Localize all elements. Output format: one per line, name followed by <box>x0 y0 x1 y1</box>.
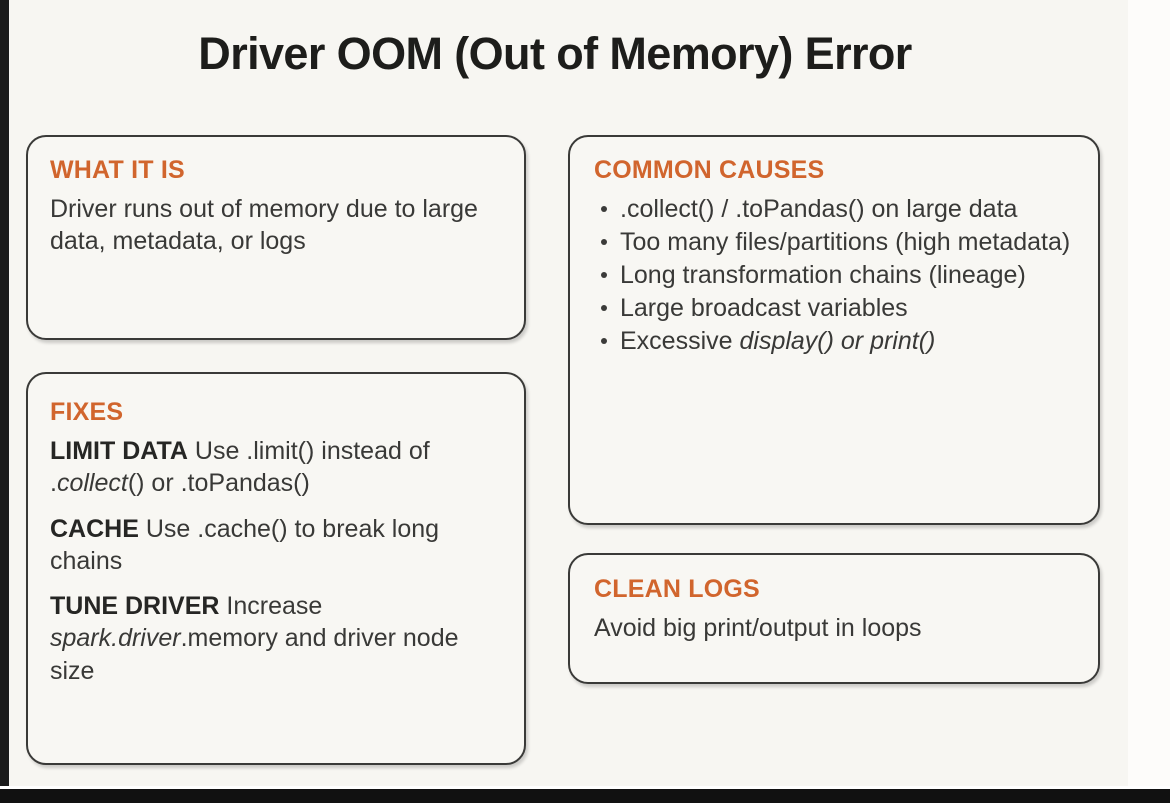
frame-bottom-edge <box>0 789 1170 803</box>
list-item: Too many files/partitions (high metadata… <box>594 226 1076 258</box>
fix-item: TUNE DRIVER Increase spark.driver.memory… <box>50 590 502 687</box>
card-fixes: FIXES LIMIT DATA Use .limit() instead of… <box>26 372 526 765</box>
poster-root: Driver OOM (Out of Memory) Error WHAT IT… <box>0 0 1170 803</box>
bullet-text: Excessive <box>620 327 739 355</box>
card-fixes-heading: FIXES <box>50 398 502 427</box>
card-what-it-is-heading: WHAT IT IS <box>50 156 502 185</box>
fix-text: Increase <box>219 592 322 620</box>
card-common-causes-heading: COMMON CAUSES <box>594 156 1076 185</box>
card-clean-logs-heading: CLEAN LOGS <box>594 575 1076 604</box>
list-item: Large broadcast variables <box>594 292 1076 324</box>
card-what-it-is-body: Driver runs out of memory due to large d… <box>50 193 502 258</box>
bullet-text: Large broadcast variables <box>620 294 908 322</box>
bullet-text: .collect() / .toPandas() on large data <box>620 195 1017 223</box>
list-item: .collect() / .toPandas() on large data <box>594 193 1076 225</box>
fix-item: CACHE Use .cache() to break long chains <box>50 513 502 578</box>
fix-text-tail: () or .toPandas() <box>128 469 310 497</box>
list-item: Long transformation chains (lineage) <box>594 259 1076 291</box>
card-common-causes: COMMON CAUSES .collect() / .toPandas() o… <box>568 135 1100 525</box>
card-what-it-is: WHAT IT IS Driver runs out of memory due… <box>26 135 526 340</box>
card-fixes-body: LIMIT DATA Use .limit() instead of .coll… <box>50 435 502 687</box>
frame-right-edge <box>1128 0 1170 803</box>
list-item: Excessive display() or print() <box>594 325 1076 357</box>
frame-left-edge <box>0 0 9 803</box>
fix-emphasis: spark.driver <box>50 624 181 652</box>
common-causes-list: .collect() / .toPandas() on large data T… <box>594 193 1076 357</box>
card-clean-logs-body: Avoid big print/output in loops <box>594 612 1076 644</box>
bullet-emphasis: display() or print() <box>739 327 935 355</box>
card-clean-logs: CLEAN LOGS Avoid big print/output in loo… <box>568 553 1100 684</box>
fix-term: TUNE DRIVER <box>50 592 219 620</box>
fix-term: CACHE <box>50 515 139 543</box>
fix-item: LIMIT DATA Use .limit() instead of .coll… <box>50 435 502 500</box>
fix-emphasis: collect <box>57 469 128 497</box>
fix-term: LIMIT DATA <box>50 437 188 465</box>
bullet-text: Too many files/partitions (high metadata… <box>620 228 1070 256</box>
page-title: Driver OOM (Out of Memory) Error <box>0 28 1110 80</box>
bullet-text: Long transformation chains (lineage) <box>620 261 1026 289</box>
